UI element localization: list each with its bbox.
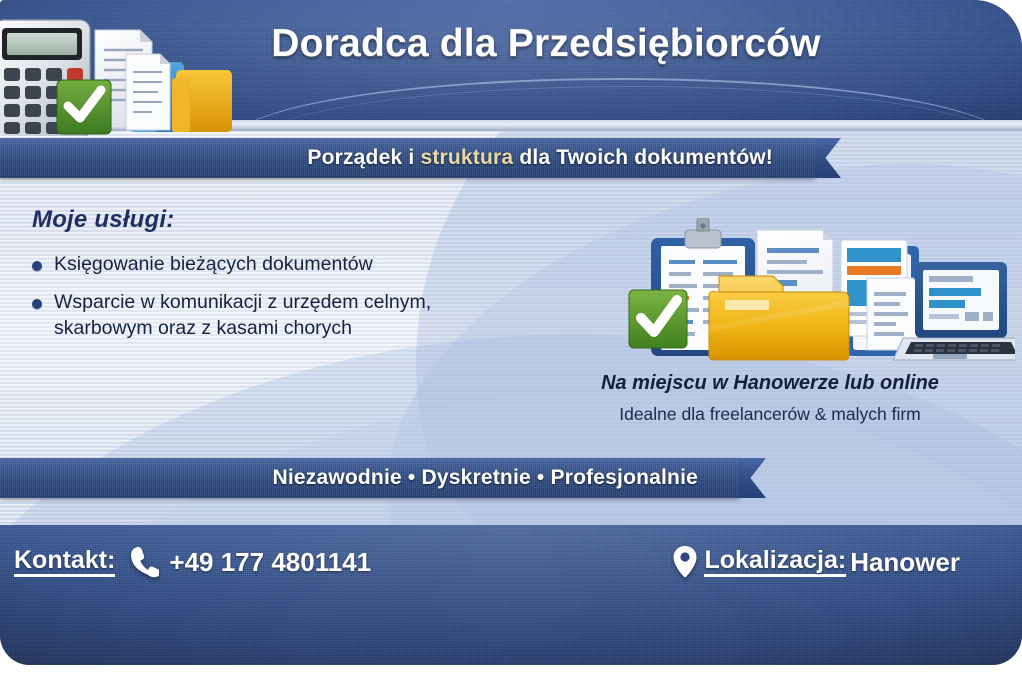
service-label: Wsparcie w komunikacji z urzędem celnym,… (54, 290, 502, 341)
services-section: Moje usługi: Księgowanie bieżących dokum… (32, 206, 502, 354)
tagline-part-1: Porządek i (307, 146, 420, 169)
contact-block[interactable]: Kontakt: +49 177 4801141 (14, 545, 371, 579)
values-text: Niezawodnie • Dyskretnie • Profesjonalni… (272, 466, 740, 490)
yellow-folder-icon (172, 70, 232, 132)
footer-bar: Kontakt: +49 177 4801141 Lokalizacja: Ha… (0, 525, 1022, 665)
phone-number[interactable]: +49 177 4801141 (169, 547, 371, 578)
list-item: Wsparcie w komunikacji z urzędem celnym,… (32, 290, 502, 341)
tagline-ribbon: Porządek i struktura dla Twoich dokument… (0, 138, 815, 178)
services-heading: Moje usługi: (32, 206, 502, 234)
tagline-highlight: struktura (420, 146, 513, 169)
green-check-icon (57, 80, 111, 134)
location-block[interactable]: Lokalizacja: Hanower (672, 545, 960, 579)
tagline-text: Porządek i struktura dla Twoich dokument… (307, 146, 815, 170)
header-icon-cluster (0, 8, 275, 136)
bullet-icon (32, 299, 42, 309)
list-item: Księgowanie bieżących dokumentów (32, 252, 502, 277)
phone-icon (129, 545, 159, 579)
service-label: Księgowanie bieżących dokumentów (54, 252, 373, 277)
business-card-poster: Doradca dla Przedsiębiorców (0, 0, 1022, 681)
contact-label: Kontakt: (14, 547, 115, 577)
office-documents-illustration (615, 218, 1015, 373)
map-pin-icon (672, 545, 698, 579)
location-caption-primary: Na miejscu w Hanowerze lub online (560, 372, 980, 395)
bullet-icon (32, 261, 42, 271)
tagline-part-2: dla Twoich dokumentów! (513, 146, 773, 169)
green-check-icon (629, 290, 687, 348)
poster-panel: Doradca dla Przedsiębiorców (0, 0, 1022, 665)
location-label: Lokalizacja: (704, 547, 846, 577)
location-value: Hanower (850, 547, 960, 578)
values-ribbon: Niezawodnie • Dyskretnie • Profesjonalni… (0, 458, 740, 498)
location-caption-secondary: Idealne dla freelancerów & malych firm (560, 404, 980, 425)
